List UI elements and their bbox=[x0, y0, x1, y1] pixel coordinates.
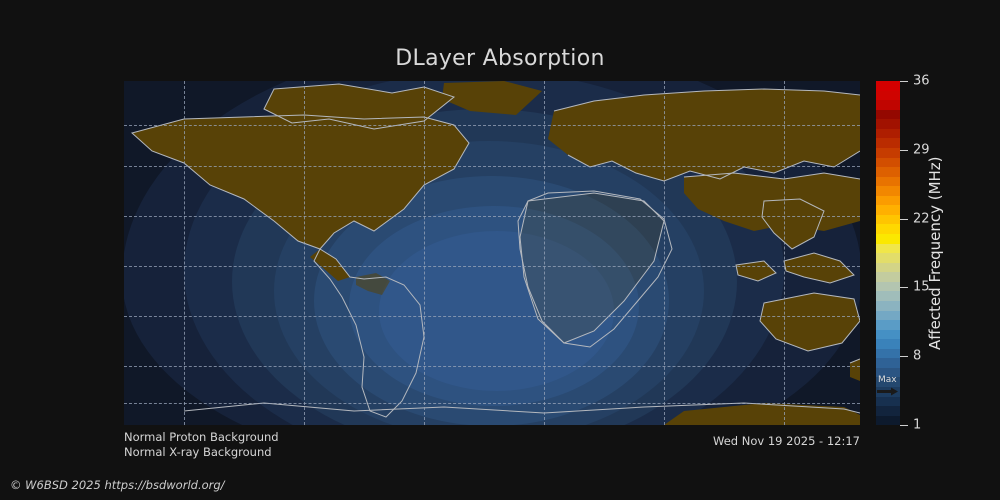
colorbar-swatch bbox=[876, 100, 900, 110]
colorbar-gradient bbox=[876, 81, 900, 425]
map-canvas bbox=[124, 81, 860, 425]
colorbar-swatch bbox=[876, 167, 900, 177]
colorbar-swatch bbox=[876, 158, 900, 168]
app-root: DLayer Absorption bbox=[0, 0, 1000, 500]
timestamp: Wed Nov 19 2025 - 12:17 bbox=[713, 434, 860, 448]
page-title: DLayer Absorption bbox=[0, 46, 1000, 71]
colorbar-swatch bbox=[876, 311, 900, 321]
colorbar-tick bbox=[900, 425, 908, 426]
colorbar-tick bbox=[900, 81, 908, 82]
colorbar-swatch bbox=[876, 339, 900, 349]
colorbar-swatch bbox=[876, 244, 900, 254]
colorbar-swatch bbox=[876, 234, 900, 244]
colorbar-tick bbox=[900, 356, 908, 357]
colorbar-swatch bbox=[876, 320, 900, 330]
proton-background-status: Normal Proton Background bbox=[124, 430, 279, 444]
colorbar-swatch bbox=[876, 224, 900, 234]
colorbar-swatch bbox=[876, 110, 900, 120]
colorbar-tick-label: 8 bbox=[913, 349, 921, 364]
colorbar-swatch bbox=[876, 406, 900, 416]
colorbar-swatch bbox=[876, 129, 900, 139]
xray-background-status: Normal X-ray Background bbox=[124, 445, 272, 459]
colorbar-swatch bbox=[876, 186, 900, 196]
colorbar-swatch bbox=[876, 272, 900, 282]
colorbar-swatch bbox=[876, 81, 900, 91]
colorbar-tick bbox=[900, 150, 908, 151]
colorbar-swatch bbox=[876, 349, 900, 359]
colorbar-swatch bbox=[876, 148, 900, 158]
continents-layer bbox=[124, 81, 860, 425]
colorbar-swatch bbox=[876, 119, 900, 129]
colorbar-tick bbox=[900, 219, 908, 220]
colorbar[interactable]: Max 1815222936 bbox=[876, 81, 900, 425]
colorbar-swatch bbox=[876, 330, 900, 340]
colorbar-swatch bbox=[876, 196, 900, 206]
colorbar-swatch bbox=[876, 91, 900, 101]
colorbar-swatch bbox=[876, 205, 900, 215]
colorbar-tick bbox=[900, 287, 908, 288]
colorbar-swatch bbox=[876, 282, 900, 292]
colorbar-swatch bbox=[876, 177, 900, 187]
world-map[interactable] bbox=[124, 81, 860, 425]
colorbar-swatch bbox=[876, 416, 900, 426]
arrow-right-icon bbox=[877, 387, 899, 396]
colorbar-title: Affected Frequency (MHz) bbox=[922, 81, 948, 425]
colorbar-tick-label: 1 bbox=[913, 418, 921, 433]
colorbar-swatch bbox=[876, 253, 900, 263]
colorbar-swatch bbox=[876, 358, 900, 368]
colorbar-swatch bbox=[876, 291, 900, 301]
colorbar-swatch bbox=[876, 215, 900, 225]
colorbar-max-marker: Max bbox=[877, 375, 899, 401]
colorbar-swatch bbox=[876, 138, 900, 148]
colorbar-swatch bbox=[876, 263, 900, 273]
colorbar-max-label: Max bbox=[878, 375, 897, 385]
credit-line: © W6BSD 2025 https://bsdworld.org/ bbox=[10, 478, 225, 492]
colorbar-swatch bbox=[876, 301, 900, 311]
